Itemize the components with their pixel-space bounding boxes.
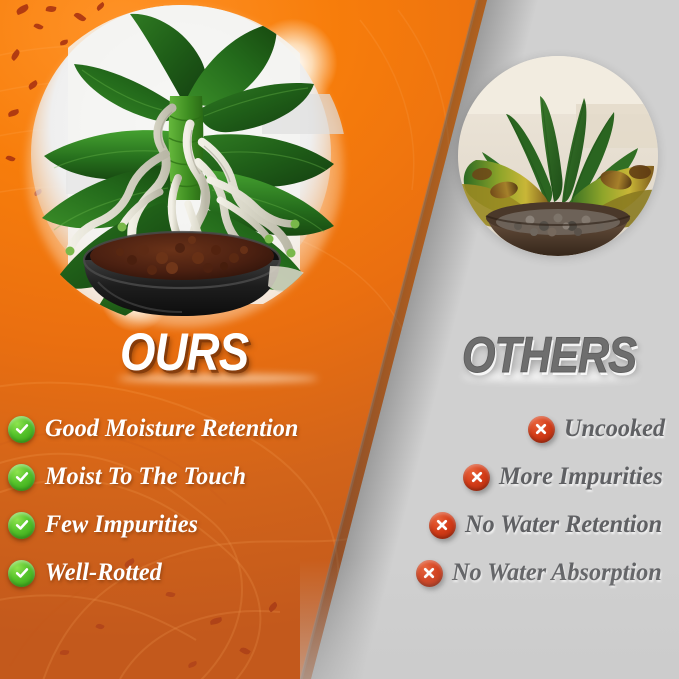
list-item-label: More Impurities xyxy=(499,463,663,491)
check-circle-icon xyxy=(8,464,35,491)
list-item: More Impurities xyxy=(463,453,668,501)
cross-circle-icon xyxy=(528,416,555,443)
list-item-label: Well-Rotted xyxy=(45,559,162,587)
list-item: No Water Retention xyxy=(429,501,668,549)
list-item: Moist To The Touch xyxy=(8,453,252,501)
cross-circle-icon xyxy=(463,464,490,491)
ours-heading: OURS xyxy=(120,326,248,379)
list-item: Well-Rotted xyxy=(8,549,165,597)
list-item: No Water Absorption xyxy=(416,549,668,597)
list-item-label: Good Moisture Retention xyxy=(45,415,298,443)
list-item: Good Moisture Retention xyxy=(8,405,306,453)
ours-feature-list: Good Moisture Retention Moist To The Tou… xyxy=(8,405,338,597)
ours-plant-photo xyxy=(12,4,350,326)
check-circle-icon xyxy=(8,512,35,539)
comparison-infographic: OURS OTHERS Good Moisture Retention Mois… xyxy=(0,0,679,679)
cross-circle-icon xyxy=(416,560,443,587)
list-item-label: Few Impurities xyxy=(45,511,198,539)
list-item-label: Moist To The Touch xyxy=(45,463,246,491)
list-item: Few Impurities xyxy=(8,501,203,549)
list-item-label: No Water Retention xyxy=(465,511,662,539)
cross-circle-icon xyxy=(429,512,456,539)
list-item-label: Uncooked xyxy=(564,415,665,443)
others-drawback-list: Uncooked More Impurities No Water Retent… xyxy=(352,405,668,597)
others-heading: OTHERS xyxy=(462,330,636,380)
list-item: Uncooked xyxy=(528,405,668,453)
check-circle-icon xyxy=(8,416,35,443)
list-item-label: No Water Absorption xyxy=(452,559,662,587)
others-plant-photo xyxy=(458,56,658,256)
check-circle-icon xyxy=(8,560,35,587)
